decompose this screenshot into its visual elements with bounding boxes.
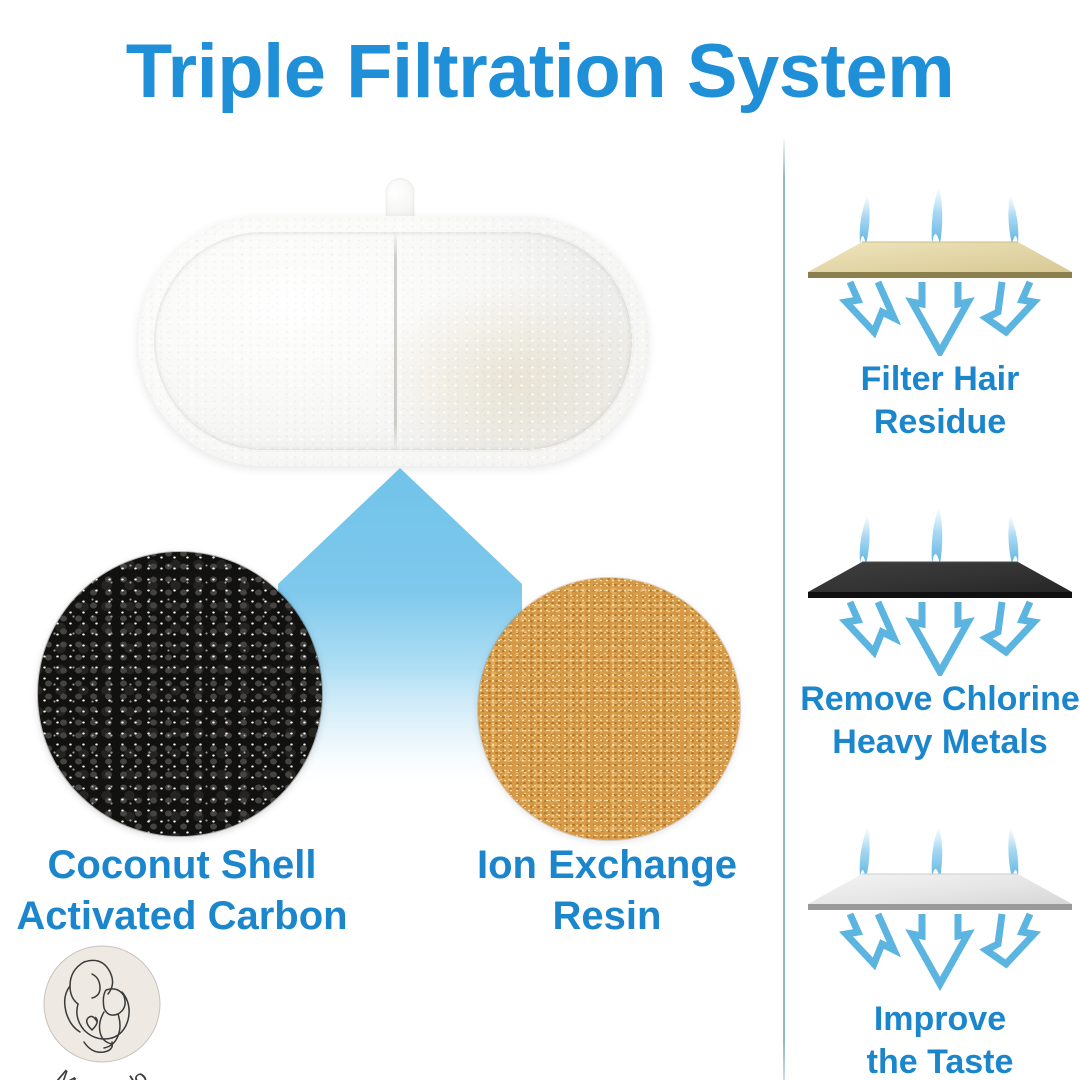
caption-remove-chlorine-heavy-metals: Remove Chlorine Heavy Metals <box>800 678 1080 763</box>
filter-pad-seam <box>394 232 397 450</box>
ion-exchange-resin-swatch <box>478 578 740 840</box>
filter-plate-white-icon <box>800 826 1080 996</box>
brand-logo: Monmundo <box>26 934 178 1080</box>
filter-plate-charcoal-icon <box>800 506 1080 676</box>
filter-plate-cream-icon <box>800 186 1080 356</box>
infographic-canvas: Triple Filtration System Coconut Shell A… <box>0 0 1080 1080</box>
filter-pad <box>138 178 648 468</box>
caption-coconut-shell-activated-carbon: Coconut Shell Activated Carbon <box>0 840 372 942</box>
page-title: Triple Filtration System <box>0 34 1080 110</box>
filter-pad-body <box>138 216 648 466</box>
coconut-shell-activated-carbon-swatch <box>38 552 322 836</box>
stage-filter-hair-residue: Filter Hair Residue <box>800 186 1080 443</box>
column-divider <box>783 140 785 1080</box>
svg-text:Monmundo: Monmundo <box>52 1066 152 1080</box>
caption-ion-exchange-resin: Ion Exchange Resin <box>432 840 782 942</box>
stage-remove-chlorine-heavy-metals: Remove Chlorine Heavy Metals <box>800 506 1080 763</box>
caption-filter-hair-residue: Filter Hair Residue <box>800 358 1080 443</box>
stage-improve-the-taste: Improve the Taste <box>800 826 1080 1080</box>
caption-improve-the-taste: Improve the Taste <box>800 998 1080 1080</box>
